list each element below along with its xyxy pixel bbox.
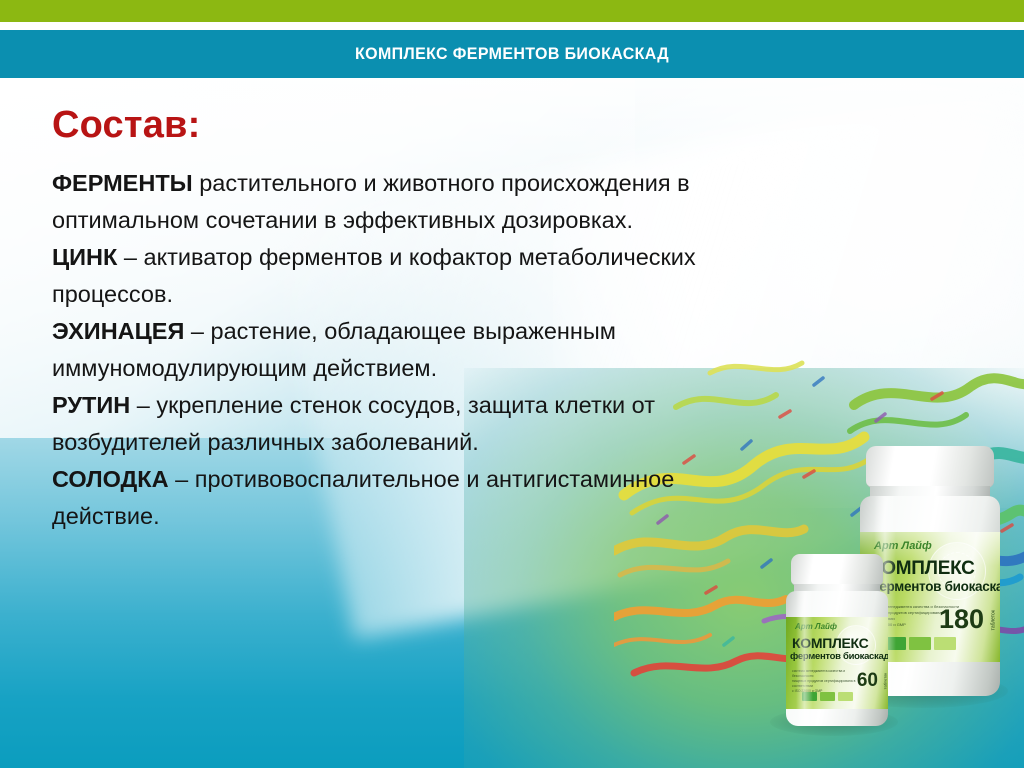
page-title: Состав: xyxy=(52,104,782,147)
ingredient-item-cink: ЦИНК – активатор ферментов и кофактор ме… xyxy=(52,239,782,313)
ingredient-term: СОЛОДКА xyxy=(52,466,169,492)
product-name-line2: ферментов биокаскад xyxy=(790,651,888,662)
label-swatch xyxy=(934,637,956,650)
bottle-cap xyxy=(791,554,883,586)
header-bar: КОМПЛЕКС ФЕРМЕНТОВ БИОКАСКАД xyxy=(0,30,1024,78)
bottle-label: Арт Лайф КОМПЛЕКС ферментов биокаскад си… xyxy=(786,617,888,709)
tablet-count-unit: таблеток xyxy=(990,610,996,630)
ingredient-item-solodka: СОЛОДКА – противовоспалительное и антиги… xyxy=(52,461,782,535)
slide: КОМПЛЕКС ФЕРМЕНТОВ БИОКАСКАД Состав: ФЕР… xyxy=(0,0,1024,768)
ingredient-item-fermenty: ФЕРМЕНТЫ растительного и животного проис… xyxy=(52,165,782,239)
brand-logo: Арт Лайф xyxy=(874,540,932,552)
tablet-count: 180 xyxy=(939,606,984,633)
bottle-body: Арт Лайф КОМПЛЕКС ферментов биокаскад си… xyxy=(786,591,888,726)
top-green-bar xyxy=(0,0,1024,22)
ingredient-term: ЦИНК xyxy=(52,244,117,270)
label-swatch xyxy=(838,692,853,701)
tablet-count: 60 xyxy=(857,671,878,690)
ingredients-list: ФЕРМЕНТЫ растительного и животного проис… xyxy=(52,165,782,535)
ingredient-text: – укрепление стенок сосудов, защита клет… xyxy=(52,392,662,455)
bottle-small-60: Арт Лайф КОМПЛЕКС ферментов биокаскад си… xyxy=(786,554,888,726)
tablet-count-unit: таблеток xyxy=(882,673,887,689)
ingredient-term: ФЕРМЕНТЫ xyxy=(52,170,193,196)
ingredient-item-ehinaceya: ЭХИНАЦЕЯ – растение, обладающее выраженн… xyxy=(52,313,782,387)
label-swatches xyxy=(884,637,956,650)
label-swatch xyxy=(909,637,931,650)
ingredient-item-rutin: РУТИН – укрепление стенок сосудов, защит… xyxy=(52,387,782,461)
ingredient-text: – активатор ферментов и кофактор метабол… xyxy=(52,244,702,307)
label-fineprint: система менеджмента качества и безопасно… xyxy=(792,669,856,694)
content-area: Состав: ФЕРМЕНТЫ растительного и животно… xyxy=(52,104,782,535)
label-swatch xyxy=(820,692,835,701)
ingredient-term: РУТИН xyxy=(52,392,130,418)
header-title: КОМПЛЕКС ФЕРМЕНТОВ БИОКАСКАД xyxy=(355,44,669,64)
bottle-cap xyxy=(866,446,994,488)
product-name-line1: КОМПЛЕКС xyxy=(792,635,868,651)
bar-divider-gap xyxy=(0,22,1024,30)
label-swatches xyxy=(802,692,853,701)
ingredient-term: ЭХИНАЦЕЯ xyxy=(52,318,184,344)
brand-logo: Арт Лайф xyxy=(795,622,837,631)
label-swatch xyxy=(802,692,817,701)
